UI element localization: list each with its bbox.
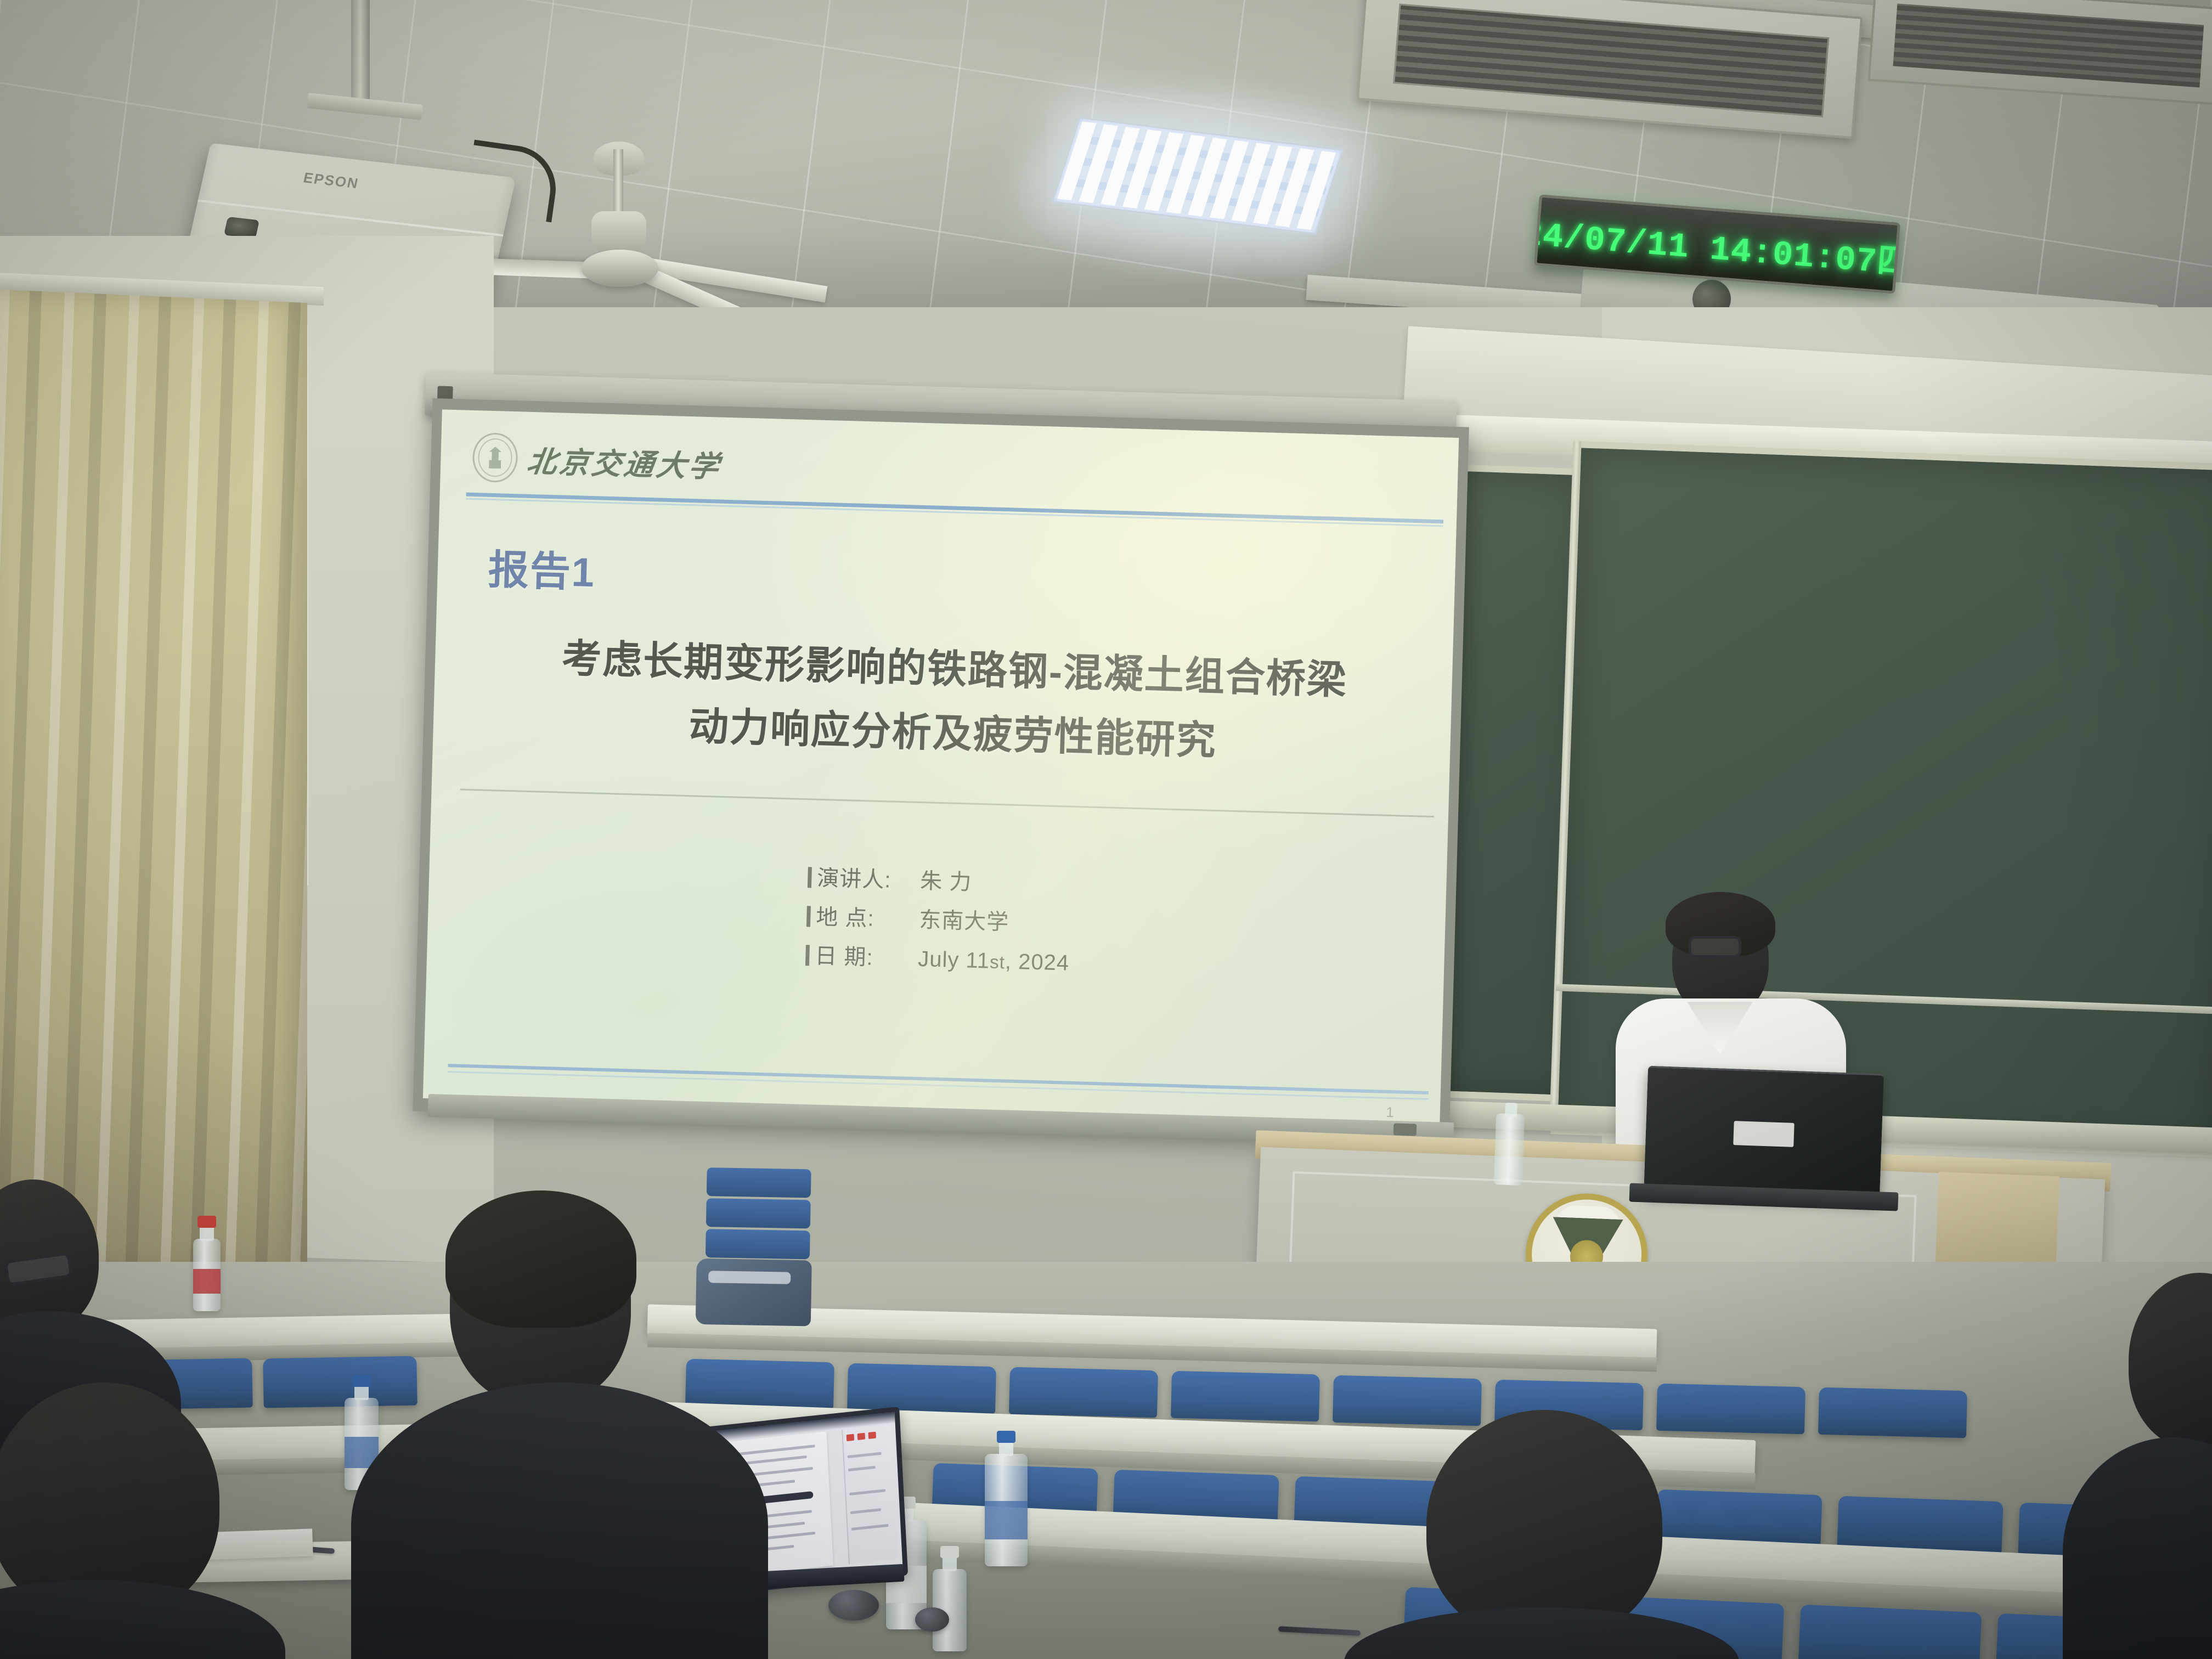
meta-value-speaker: 朱 力 <box>919 862 972 902</box>
panel-text-line <box>848 1452 882 1458</box>
meta-bullet-bar <box>806 906 811 927</box>
bottle-cap <box>198 1216 216 1228</box>
projector-lens-icon <box>224 217 259 239</box>
lecture-hall-photo: EPSON 24/07/11 14:01:07四 <box>0 0 2212 1659</box>
meta-label-location: 地 点: <box>815 898 919 940</box>
slide-header-rule-thin <box>466 498 1443 527</box>
stacked-chairs <box>695 1167 835 1340</box>
fan-downrod <box>613 149 623 215</box>
seat[interactable] <box>263 1356 417 1408</box>
stacked-chair-seat <box>706 1229 810 1259</box>
audience-shoulders <box>351 1383 768 1659</box>
meta-value-date: July 11 <box>917 940 990 981</box>
backpack[interactable] <box>696 1259 812 1327</box>
slide-footer-rule-thin <box>448 1071 1428 1100</box>
meta-date-year: , 2024 <box>1005 943 1070 983</box>
stacked-chair-seat <box>707 1167 811 1198</box>
meta-bullet-bar <box>808 867 812 888</box>
panel-text-line <box>850 1508 881 1514</box>
slide-page-number: 1 <box>1386 1104 1394 1121</box>
water-bottle[interactable] <box>985 1454 1028 1566</box>
presenter-glasses-icon <box>1689 936 1741 958</box>
projector-brand-label: EPSON <box>302 169 360 192</box>
stacked-chair-seat <box>706 1198 811 1228</box>
laptop-sticker <box>1733 1121 1794 1147</box>
meta-row-date: 日 期: July 11st, 2024 <box>805 937 1070 984</box>
slide-kicker: 报告1 <box>488 537 596 599</box>
presentation-slide: 北京交通大学 报告1 考虑长期变形影响的铁路钢-混凝土组合桥梁 动力响应分析及疲… <box>423 409 1459 1126</box>
audience-head <box>1426 1410 1662 1640</box>
meta-label-speaker: 演讲人: <box>816 859 921 901</box>
laptop-side-panel <box>842 1425 898 1564</box>
meta-bullet-bar <box>805 945 810 966</box>
slide-meta-block: 演讲人: 朱 力 地 点: 东南大学 日 期: July 11st, 2024 <box>805 859 1072 983</box>
vent-grille-icon <box>1393 4 1829 117</box>
panel-text-line <box>848 1466 876 1471</box>
bjtu-seal-icon <box>472 432 518 483</box>
seat[interactable] <box>1171 1371 1320 1422</box>
projector-mount-pole <box>351 0 370 104</box>
panel-text-line <box>851 1524 889 1531</box>
meta-date-suffix: st <box>989 946 1006 979</box>
meta-value-location: 东南大学 <box>918 901 1009 943</box>
bottle-cap <box>940 1546 959 1558</box>
panel-swatch <box>847 1434 855 1441</box>
bottle-label <box>193 1269 221 1294</box>
audience-hair <box>445 1190 636 1328</box>
backpack-strap <box>708 1271 791 1284</box>
meta-row-speaker: 演讲人: 朱 力 <box>807 859 1072 905</box>
panel-swatch <box>857 1433 866 1440</box>
seat[interactable] <box>1798 1605 1982 1659</box>
mouse-puck[interactable] <box>828 1590 879 1621</box>
panel-swatch <box>868 1432 876 1439</box>
water-bottle-podium[interactable] <box>1494 1113 1525 1186</box>
seat[interactable] <box>1818 1387 1967 1438</box>
university-name: 北京交通大学 <box>524 437 724 486</box>
projection-screen: 北京交通大学 报告1 考虑长期变形影响的铁路钢-混凝土组合桥梁 动力响应分析及疲… <box>413 398 1469 1140</box>
seat[interactable] <box>1333 1375 1482 1426</box>
bottle-cap <box>997 1431 1015 1443</box>
panel-text-line <box>849 1489 885 1496</box>
slide-header: 北京交通大学 <box>472 432 722 489</box>
mouse-puck[interactable] <box>915 1607 949 1632</box>
bottle-cap <box>352 1375 371 1387</box>
slide-title: 考虑长期变形影响的铁路钢-混凝土组合桥梁 动力响应分析及疲劳性能研究 <box>504 625 1403 778</box>
seat[interactable] <box>1656 1384 1805 1435</box>
presenter-laptop[interactable] <box>1644 1066 1884 1202</box>
seat[interactable] <box>1009 1367 1158 1418</box>
meta-label-date: 日 期: <box>814 937 918 979</box>
bottle-label <box>985 1501 1028 1539</box>
window-curtain <box>0 290 307 1279</box>
screen-pull-knob <box>1393 1123 1417 1136</box>
slide-header-rule <box>466 493 1444 524</box>
meta-row-location: 地 点: 东南大学 <box>806 898 1071 944</box>
seat[interactable] <box>847 1363 996 1414</box>
slide-title-divider <box>460 789 1434 818</box>
fan-hub <box>582 250 658 287</box>
seat[interactable] <box>685 1359 834 1410</box>
slide-footer-rule <box>448 1064 1428 1094</box>
water-bottle[interactable] <box>193 1239 221 1311</box>
